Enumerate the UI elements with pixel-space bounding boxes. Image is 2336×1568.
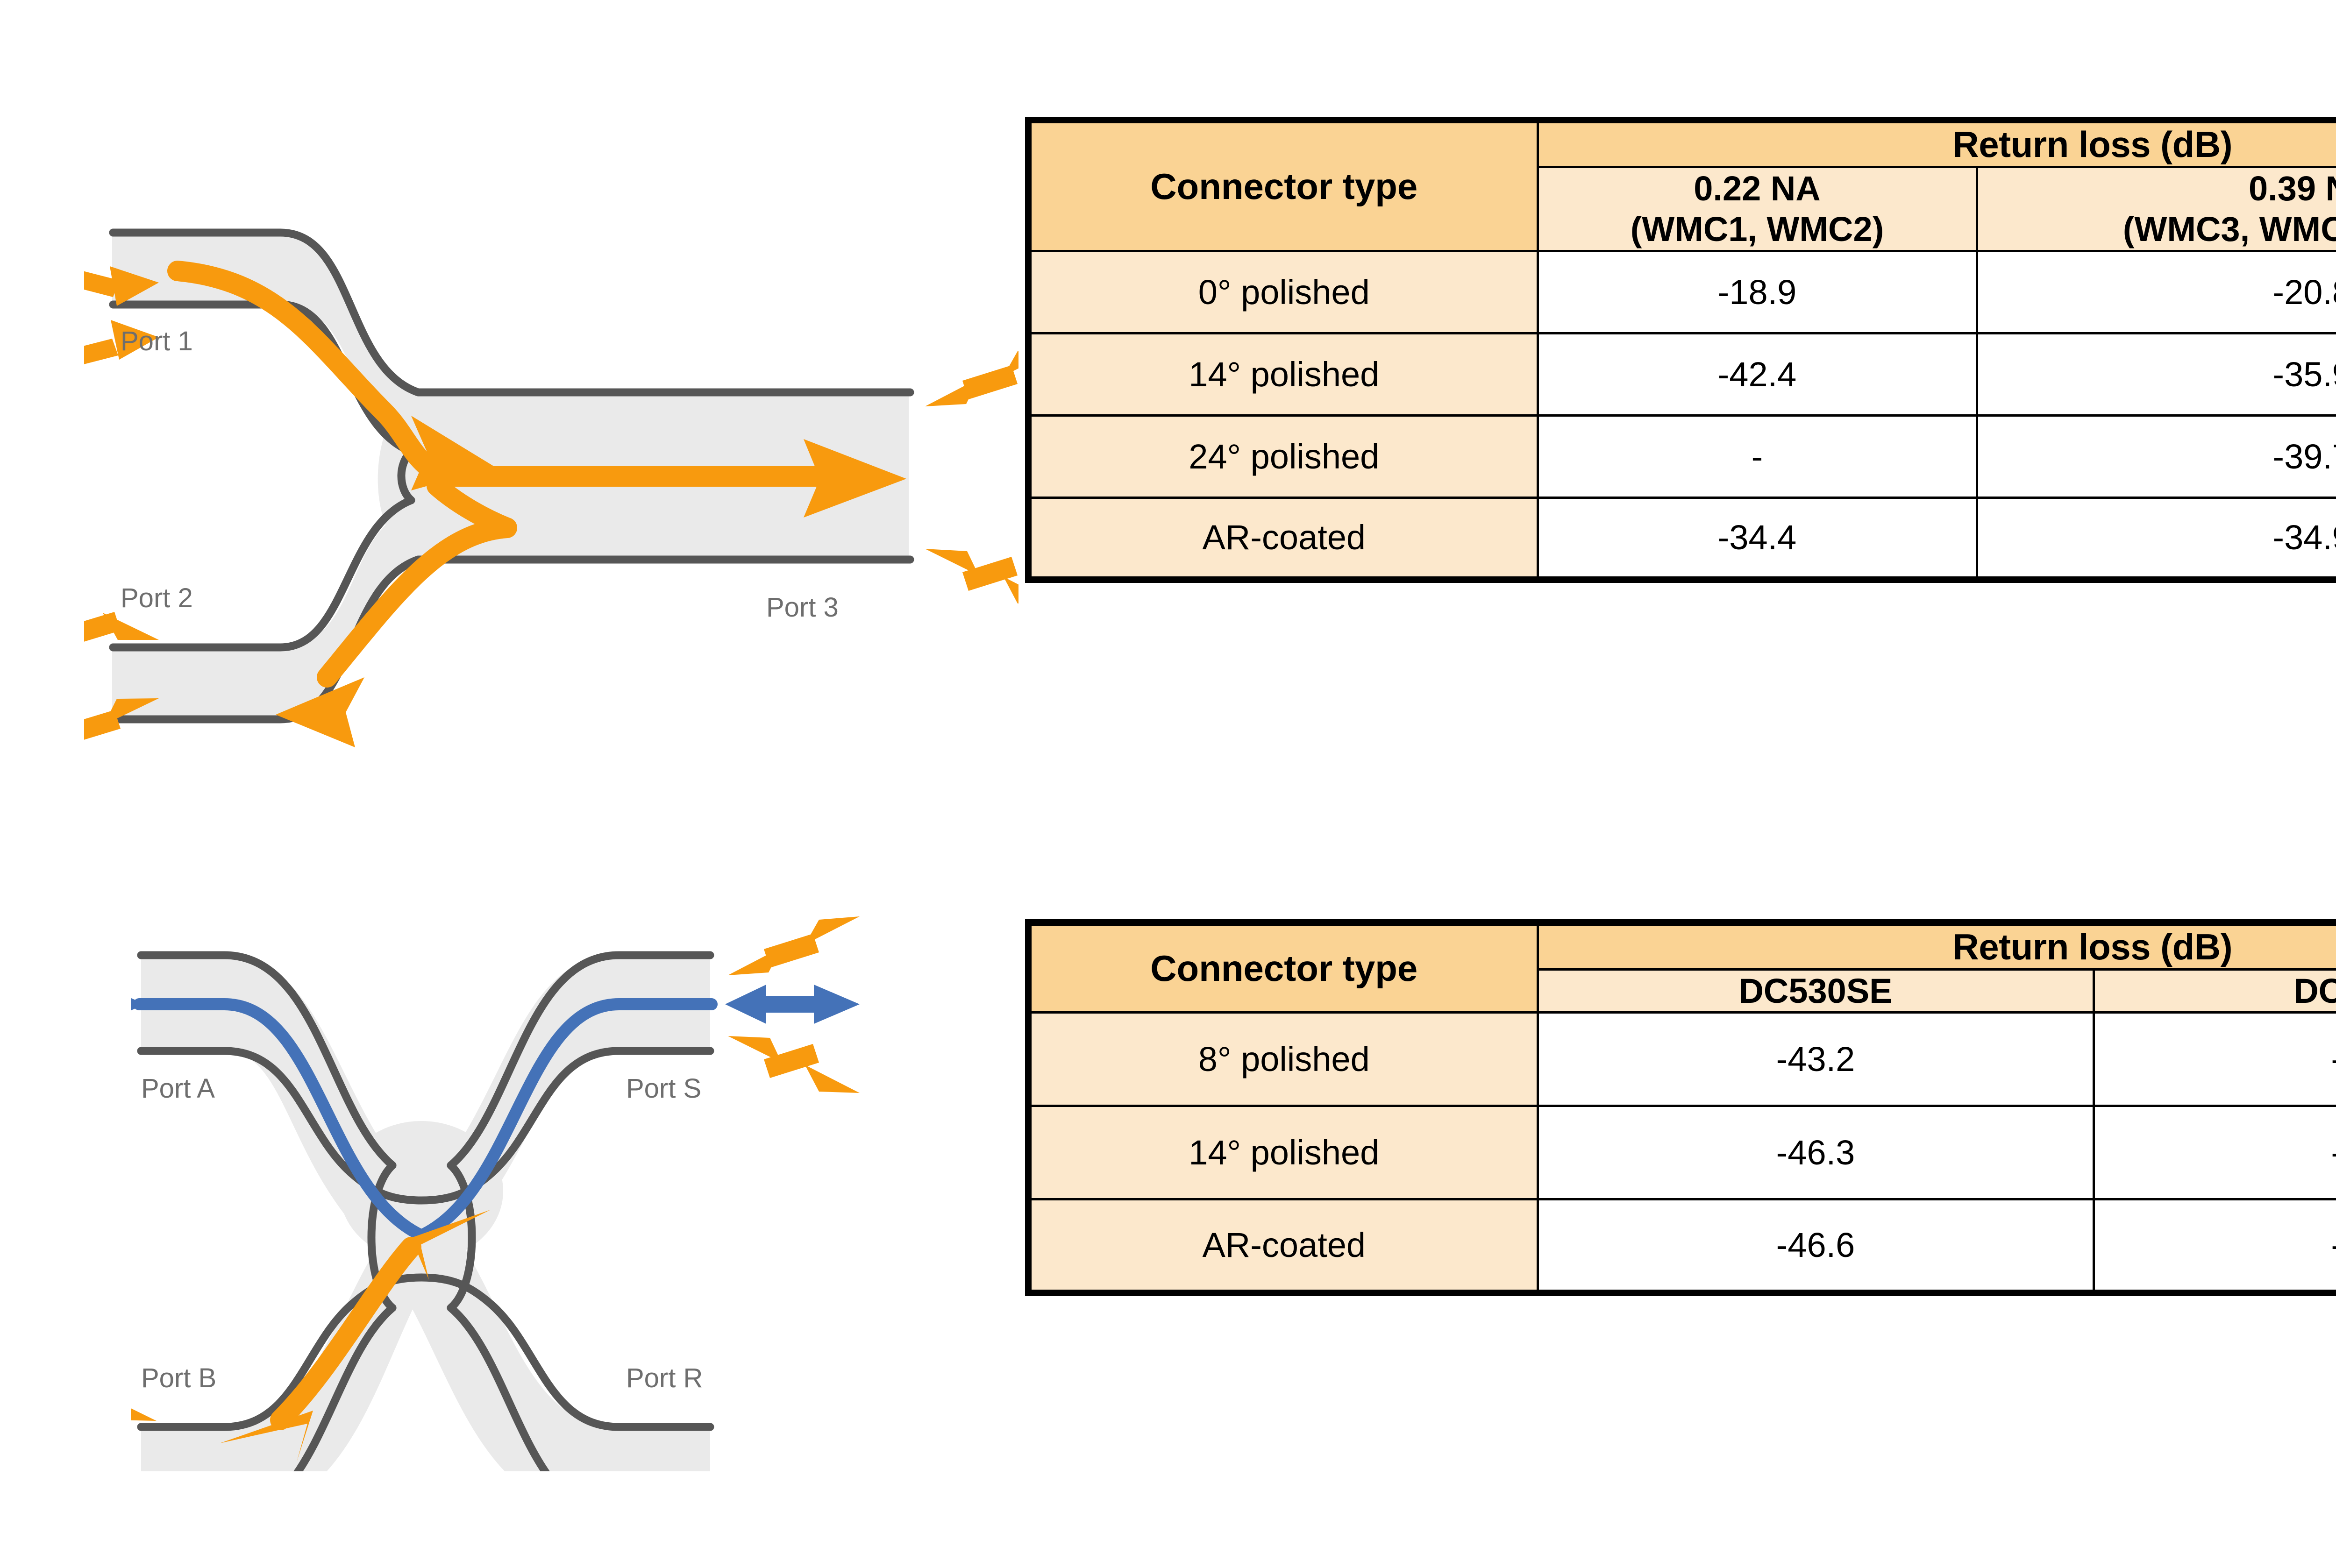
header-subcol-0-line1: 0.22 NA <box>1544 168 1971 209</box>
row-label: 24° polished <box>1028 415 1538 497</box>
table-row: 14° polished -42.4 -35.9 <box>1028 333 2336 415</box>
cell-value: -18.9 <box>1538 251 1977 333</box>
return-loss-table-dc: Connector type Return loss (dB) DC530SE … <box>1025 919 2336 1296</box>
table-header-row-1: Connector type Return loss (dB) <box>1028 922 2336 970</box>
row-label: 8° polished <box>1028 1013 1538 1106</box>
return-loss-table-wmc: Connector type Return loss (dB) 0.22 NA … <box>1025 117 2336 583</box>
row-label: 14° polished <box>1028 333 1538 415</box>
cell-value: -42.4 <box>1538 333 1977 415</box>
cell-value: - <box>1538 415 1977 497</box>
port-label-1: Port 1 <box>121 326 193 356</box>
header-return-loss: Return loss (dB) <box>1538 120 2336 167</box>
cell-value: -46.6 <box>1538 1199 2094 1293</box>
table-row: 14° polished -46.3 -50.7 <box>1028 1106 2336 1199</box>
cell-value: -34.4 <box>1538 497 1977 580</box>
header-subcol-0: 0.22 NA (WMC1, WMC2) <box>1538 167 1977 251</box>
cell-value: -43.2 <box>1538 1013 2094 1106</box>
cell-value: -46.5 <box>2094 1013 2336 1106</box>
header-subcol-1-line1: 0.39 NA <box>1983 168 2336 209</box>
cell-value: -34.9 <box>1977 497 2336 580</box>
coupler-diagram: Port A Port B Port S Port R <box>131 911 1018 1471</box>
table-header-row-1: Connector type Return loss (dB) <box>1028 120 2336 167</box>
row-label: AR-coated <box>1028 497 1538 580</box>
port-label-a: Port A <box>141 1073 215 1104</box>
table-row: AR-coated -34.4 -34.9 <box>1028 497 2336 580</box>
signal-path-orange <box>178 271 827 677</box>
portS-arrows <box>725 916 860 1093</box>
port-label-b: Port B <box>141 1363 216 1393</box>
portS-bidirectional-arrow-upper <box>728 916 860 975</box>
port-label-s: Port S <box>626 1073 701 1104</box>
row-label: 14° polished <box>1028 1106 1538 1199</box>
combiner-diagram: Port 1 Port 2 Port 3 <box>84 206 1018 789</box>
table-row: AR-coated -46.6 -50.5 <box>1028 1199 2336 1293</box>
header-subcol-1-line2: (WMC3, WMC4, WMC6) <box>1983 209 2336 249</box>
waveguide-body <box>141 955 710 1471</box>
header-subcol-0-line2: (WMC1, WMC2) <box>1544 209 1971 249</box>
row-label: 0° polished <box>1028 251 1538 333</box>
header-subcol-1-line1: DC780SE <box>2100 971 2336 1011</box>
cell-value: -39.7 <box>1977 415 2336 497</box>
header-connector-type: Connector type <box>1028 120 1538 251</box>
port-label-3: Port 3 <box>766 592 839 623</box>
header-subcol-1: 0.39 NA (WMC3, WMC4, WMC6) <box>1977 167 2336 251</box>
table-row: 0° polished -18.9 -20.8 <box>1028 251 2336 333</box>
table-row: 8° polished -43.2 -46.5 <box>1028 1013 2336 1106</box>
header-subcol-1: DC780SE <box>2094 970 2336 1013</box>
header-connector-type: Connector type <box>1028 922 1538 1013</box>
port3-bidirectional-arrows <box>925 348 1018 605</box>
port-label-r: Port R <box>626 1363 703 1393</box>
table-row: 24° polished - -39.7 <box>1028 415 2336 497</box>
cell-value: -50.5 <box>2094 1199 2336 1293</box>
header-subcol-0-line1: DC530SE <box>1544 971 2088 1011</box>
portS-bidirectional-arrow-blue <box>725 985 860 1024</box>
portS-bidirectional-arrow-lower <box>728 1036 860 1093</box>
header-subcol-0: DC530SE <box>1538 970 2094 1013</box>
cell-value: -46.3 <box>1538 1106 2094 1199</box>
cell-value: -20.8 <box>1977 251 2336 333</box>
cell-value: -50.7 <box>2094 1106 2336 1199</box>
row-label: AR-coated <box>1028 1199 1538 1293</box>
port-label-2: Port 2 <box>121 583 193 613</box>
cell-value: -35.9 <box>1977 333 2336 415</box>
header-return-loss: Return loss (dB) <box>1538 922 2336 970</box>
